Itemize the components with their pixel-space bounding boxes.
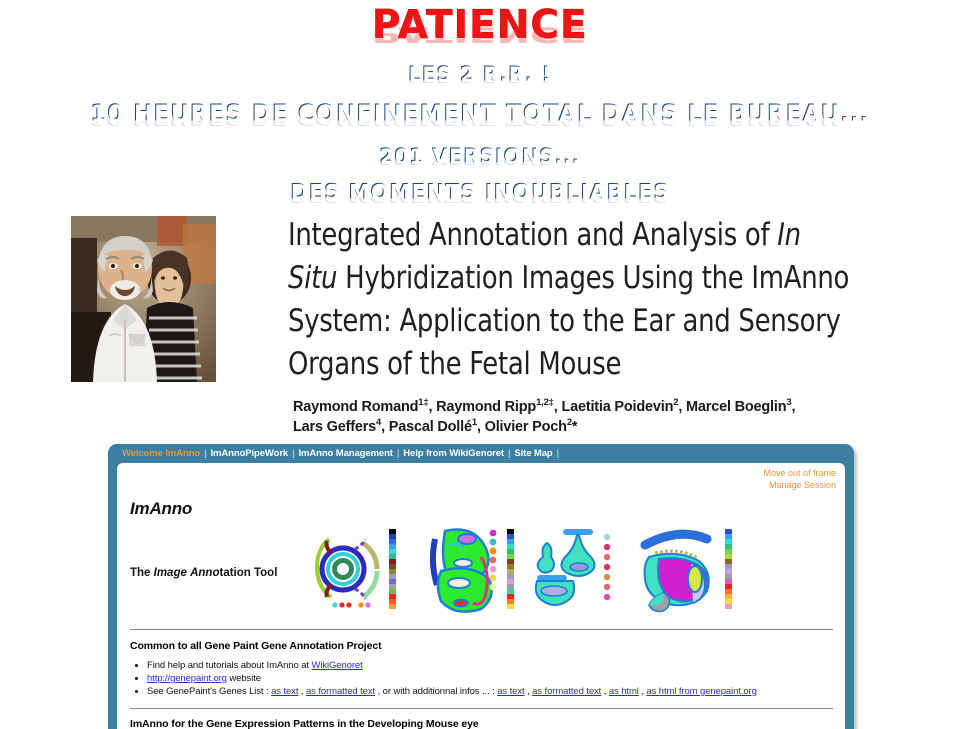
otic-vesicle-diagram-icon (527, 523, 639, 615)
author-entry: Lars Geffers4, (293, 419, 389, 435)
section-heading-common: Common to all Gene Paint Gene Annotation… (130, 640, 382, 652)
genes-list-as-formatted-text-link[interactable]: as formatted text (306, 686, 375, 697)
help-links-list: Find help and tutorials about ImAnno at … (135, 659, 757, 698)
figure-panel-eye-section[interactable] (639, 523, 751, 615)
slide-subtitle-2: 10 HEURES DE CONFINEMENT TOTAL DANS LE B… (0, 103, 960, 126)
author-entry: Marcel Boeglin3, (686, 399, 795, 415)
author-entry: Olivier Poch2* (485, 419, 578, 435)
genes-list-as-html-from-genepaint-link[interactable]: as html from genepaint.org (646, 686, 756, 697)
author-entry: Raymond Romand1‡, (293, 399, 436, 415)
nav-item-welcome-imanno[interactable]: Welcome ImAnno (118, 448, 204, 459)
genes-list-info-as-text-link[interactable]: as text (497, 686, 524, 697)
slide-subtitle-3-text: 201 VERSIONS... (379, 146, 580, 166)
paper-authors: Raymond Romand1‡, Raymond Ripp1,2‡, Laet… (293, 397, 893, 437)
nav-item-site-map[interactable]: Site Map (510, 448, 556, 459)
figure-panel-embryo-section[interactable] (415, 523, 527, 615)
list-item: http://genepaint.org website (147, 672, 757, 685)
cochlea-diagram-icon (303, 523, 415, 615)
manage-session-link[interactable]: Manage Session (763, 480, 836, 492)
nav-item-help-from-wikigenoret[interactable]: Help from WikiGenoret (399, 448, 508, 459)
slide-subtitle-3: 201 VERSIONS... 201 VERSIONS... (0, 146, 960, 166)
nav-separator: | (557, 448, 559, 459)
imanno-tagline: The Image Annotation Tool (130, 567, 277, 579)
paper-title-line-2: Situ Hybridization Images Using the ImAn… (288, 257, 902, 300)
figure-panel-cochlea[interactable] (303, 523, 415, 615)
wikigenoret-link[interactable]: WikiGenoret (311, 660, 362, 671)
figure-panel-otic-vesicles[interactable] (527, 523, 639, 615)
paper-title-line-1: Integrated Annotation and Analysis of In (288, 214, 902, 257)
color-legend-strip (604, 534, 610, 600)
list-item: Find help and tutorials about ImAnno at … (147, 659, 757, 672)
eye-section-diagram-icon (639, 523, 751, 615)
color-legend-strip-2 (507, 529, 514, 609)
color-legend-strip (725, 529, 732, 609)
group-photo-image (71, 216, 216, 382)
imanno-figure-strip (303, 523, 751, 615)
author-entry: Raymond Ripp1,2‡, (436, 399, 561, 415)
slide-title: PATIENCE PATIENCE (0, 6, 960, 45)
genepaint-site-link[interactable]: http://genepaint.org (147, 673, 227, 684)
content-divider-top (130, 629, 833, 630)
embryo-section-diagram-icon (415, 523, 527, 615)
paper-title-line-4: Organs of the Fetal Mouse (288, 343, 902, 386)
slide-subtitle-2-text: 10 HEURES DE CONFINEMENT TOTAL DANS LE B… (90, 103, 869, 126)
genes-list-as-text-link[interactable]: as text (271, 686, 298, 697)
imanno-corner-links: Move out of frame Manage Session (763, 468, 836, 491)
imanno-nav-bar: Welcome ImAnno | ImAnnoPipeWork | ImAnno… (108, 444, 854, 462)
slide-subtitle-1-text: LES 2 R.R. ! (408, 64, 551, 84)
nav-item-imanno-management[interactable]: ImAnno Management (295, 448, 397, 459)
move-out-of-frame-link[interactable]: Move out of frame (763, 468, 836, 480)
genes-list-info-as-formatted-text-link[interactable]: as formatted text (532, 686, 601, 697)
color-legend-strip (389, 529, 396, 609)
list-item: See GenePaint's Genes List : as text , a… (147, 685, 757, 698)
paper-title-line-3: System: Application to the Ear and Senso… (288, 300, 902, 343)
slide-subtitle-4: DES MOMENTS INOUBLIABLES DES MOMENTS INO… (0, 182, 960, 203)
imanno-page: Move out of frame Manage Session ImAnno … (117, 463, 845, 729)
slide-subtitle-1: LES 2 R.R. ! LES 2 R.R. ! (0, 64, 960, 84)
imanno-app-frame: Welcome ImAnno | ImAnnoPipeWork | ImAnno… (108, 444, 854, 729)
imanno-brand: ImAnno (130, 499, 192, 519)
author-entry: Laetitia Poidevin2, (561, 399, 686, 415)
paper-title: Integrated Annotation and Analysis of In… (288, 214, 902, 386)
content-divider-bottom (130, 708, 833, 709)
author-entry: Pascal Dollé1, (389, 419, 485, 435)
genes-list-info-as-html-link[interactable]: as html (609, 686, 639, 697)
slide-title-text: PATIENCE (372, 6, 588, 45)
slide-subtitle-4-text: DES MOMENTS INOUBLIABLES (290, 182, 669, 203)
nav-item-imannopipework[interactable]: ImAnnoPipeWork (207, 448, 293, 459)
group-photo (71, 216, 216, 382)
